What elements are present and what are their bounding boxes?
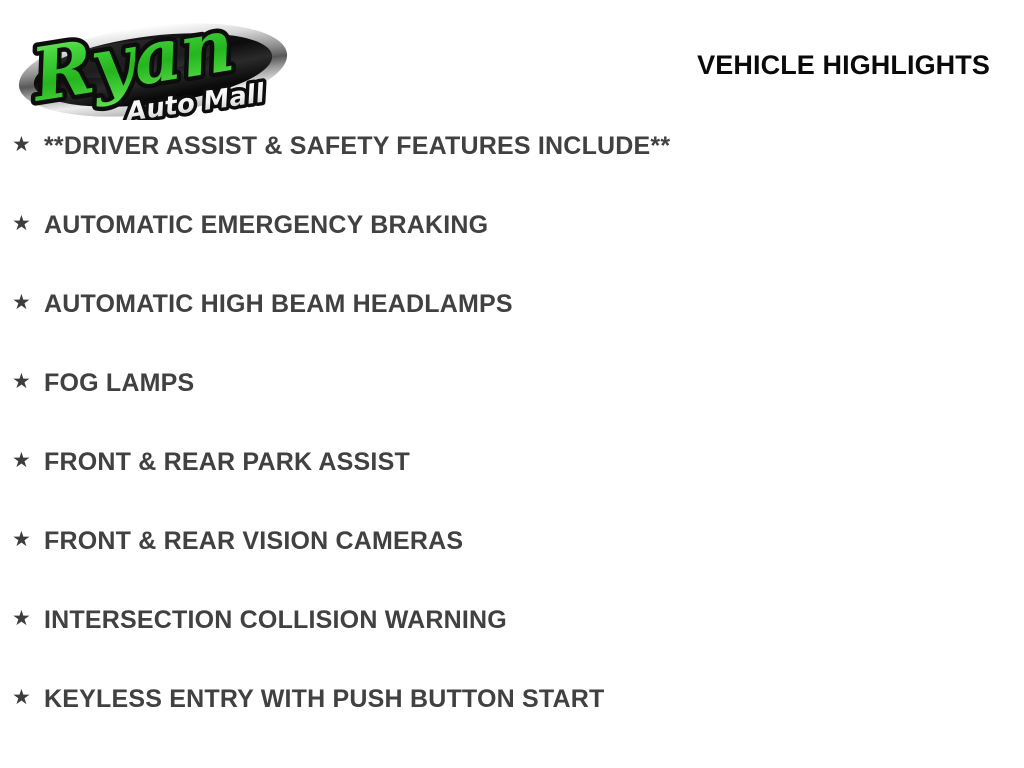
star-icon: ★: [12, 213, 34, 234]
list-item-label: INTERSECTION COLLISION WARNING: [34, 606, 507, 635]
list-item-label: KEYLESS ENTRY WITH PUSH BUTTON START: [34, 685, 604, 714]
vehicle-highlights-page: Ryan Ryan Auto Mall Auto Mall VEHICLE HI…: [0, 0, 1024, 768]
list-item: ★ INTERSECTION COLLISION WARNING: [0, 606, 1024, 685]
star-icon: ★: [12, 450, 34, 471]
list-item: ★ **DRIVER ASSIST & SAFETY FEATURES INCL…: [0, 132, 1024, 211]
list-item-label: AUTOMATIC EMERGENCY BRAKING: [34, 211, 488, 240]
star-icon: ★: [12, 608, 34, 629]
list-item: ★ FRONT & REAR PARK ASSIST: [0, 448, 1024, 527]
list-item: ★ KEYLESS ENTRY WITH PUSH BUTTON START: [0, 685, 1024, 764]
list-item: ★ FRONT & REAR VISION CAMERAS: [0, 527, 1024, 606]
list-item-label: **DRIVER ASSIST & SAFETY FEATURES INCLUD…: [34, 132, 670, 161]
list-item-label: AUTOMATIC HIGH BEAM HEADLAMPS: [34, 290, 513, 319]
page-title: VEHICLE HIGHLIGHTS: [697, 50, 990, 81]
list-item: ★ AUTOMATIC HIGH BEAM HEADLAMPS: [0, 290, 1024, 369]
list-item-label: FRONT & REAR VISION CAMERAS: [34, 527, 463, 556]
list-item-label: FRONT & REAR PARK ASSIST: [34, 448, 410, 477]
vehicle-highlights-list: ★ **DRIVER ASSIST & SAFETY FEATURES INCL…: [0, 132, 1024, 764]
list-item: ★ FOG LAMPS: [0, 369, 1024, 448]
ryan-auto-mall-logo: Ryan Ryan Auto Mall Auto Mall: [14, 8, 292, 120]
star-icon: ★: [12, 371, 34, 392]
star-icon: ★: [12, 687, 34, 708]
list-item-label: FOG LAMPS: [34, 369, 194, 398]
page-header: Ryan Ryan Auto Mall Auto Mall VEHICLE HI…: [0, 0, 1024, 132]
star-icon: ★: [12, 292, 34, 313]
star-icon: ★: [12, 134, 34, 155]
list-item: ★ AUTOMATIC EMERGENCY BRAKING: [0, 211, 1024, 290]
star-icon: ★: [12, 529, 34, 550]
